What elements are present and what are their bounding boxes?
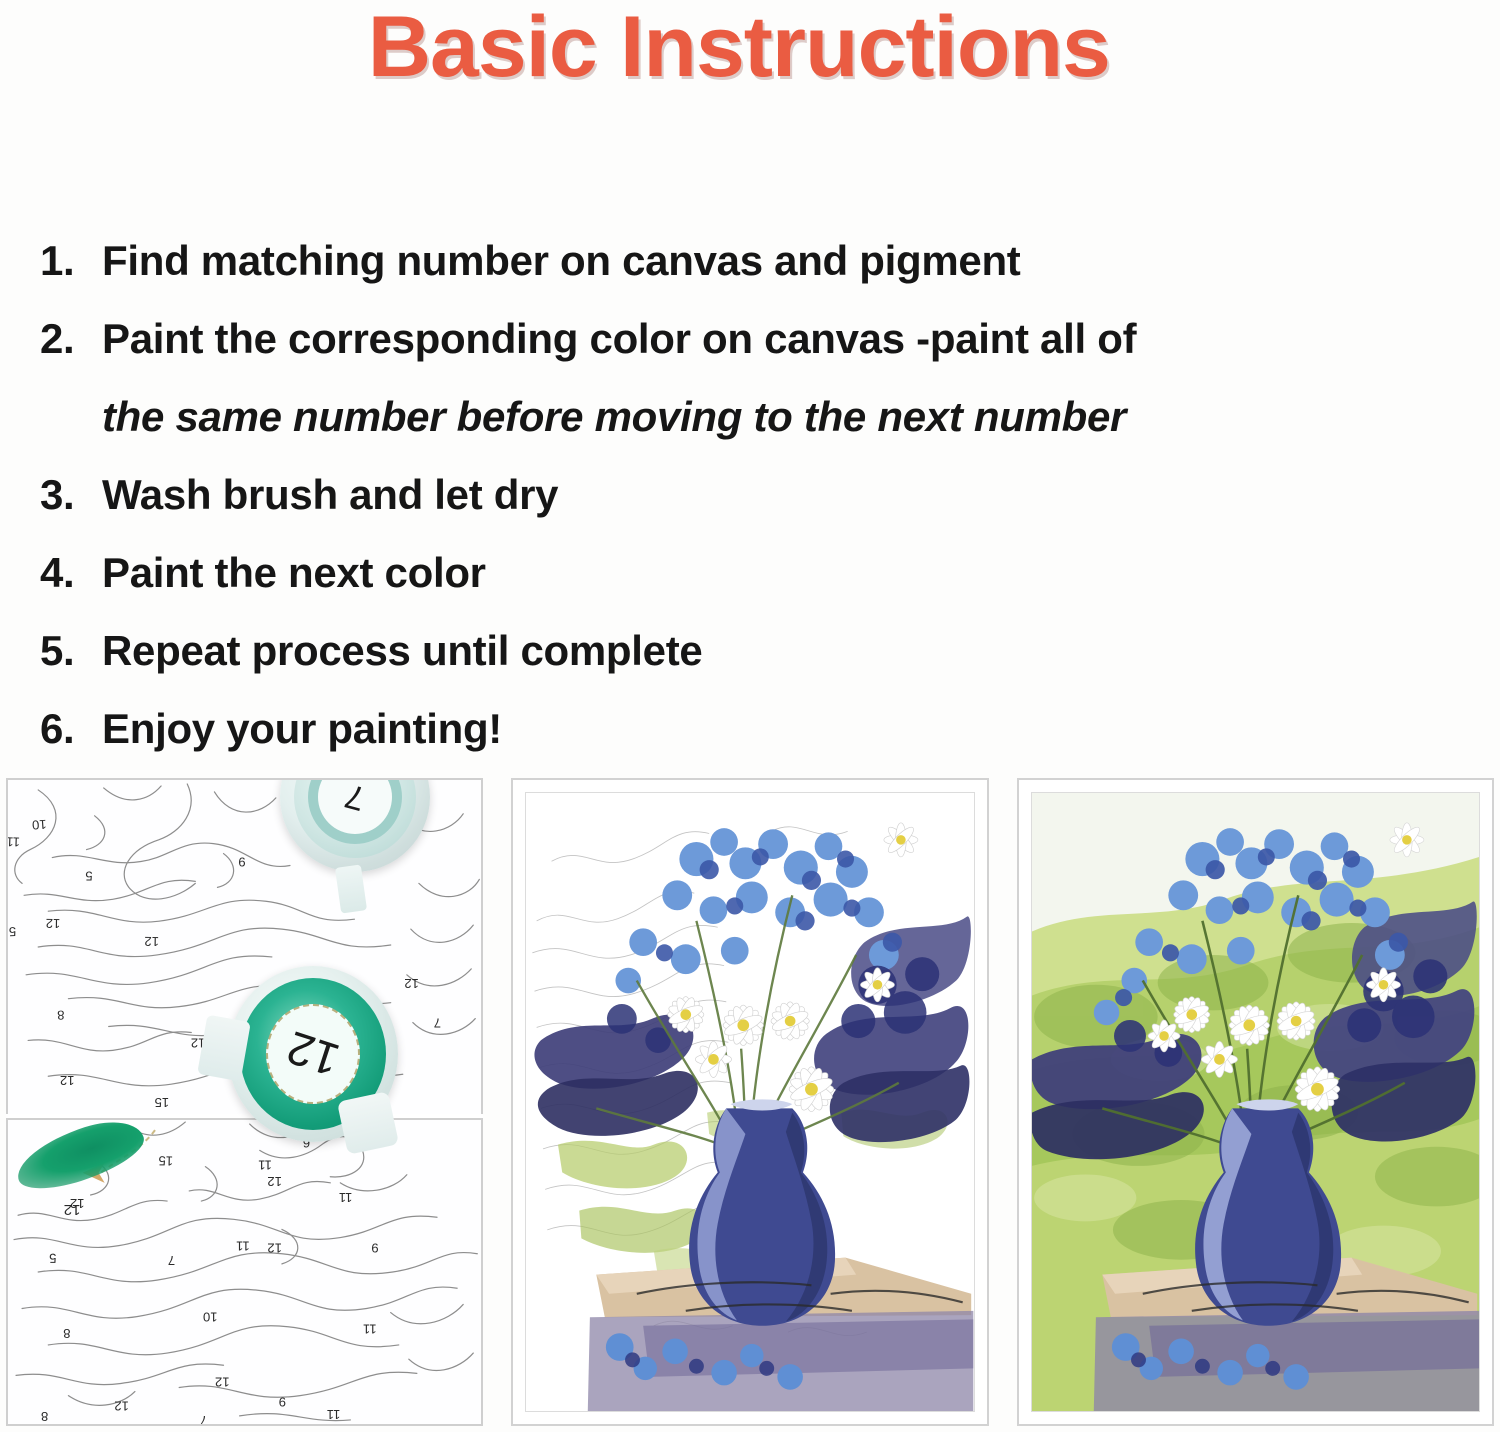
step-number: 2.	[40, 300, 102, 378]
panel-partially-painted[interactable]	[511, 778, 988, 1426]
image-panel-row: 11 10 5 12 5 9 12 8 12 12 12 7 1	[0, 778, 1500, 1426]
step-text-emphasis: paint all of	[930, 300, 1136, 378]
instruction-step-6: 6. Enjoy your painting!	[40, 690, 1460, 768]
svg-text:15: 15	[155, 1095, 170, 1110]
svg-text:12: 12	[114, 1399, 129, 1414]
svg-text:12: 12	[46, 916, 61, 931]
svg-text:9: 9	[238, 855, 245, 870]
vase-painting-partial	[526, 793, 973, 1411]
svg-text:12: 12	[267, 1174, 282, 1189]
svg-text:9: 9	[371, 1241, 378, 1256]
step-text: Find matching number on canvas and pigme…	[102, 222, 1021, 300]
vase-painting-complete	[1032, 793, 1479, 1411]
artwork-partial	[526, 793, 973, 1411]
svg-text:8: 8	[63, 1326, 70, 1341]
svg-text:5: 5	[9, 924, 17, 939]
svg-text:15: 15	[158, 1153, 173, 1168]
svg-text:10: 10	[203, 1310, 218, 1325]
svg-text:9: 9	[279, 1395, 286, 1410]
step-text: Repeat process until complete	[102, 612, 702, 690]
artwork-complete	[1032, 793, 1479, 1411]
svg-text:12: 12	[64, 1201, 81, 1218]
instruction-step-4: 4. Paint the next color	[40, 534, 1460, 612]
svg-text:11: 11	[236, 1239, 250, 1254]
svg-text:12: 12	[267, 1241, 282, 1256]
svg-text:11: 11	[363, 1322, 377, 1337]
svg-text:12: 12	[404, 976, 419, 991]
instruction-list: 1. Find matching number on canvas and pi…	[0, 222, 1460, 768]
svg-text:8: 8	[41, 1409, 48, 1424]
page-title: Basic Instructions	[368, 4, 1110, 90]
step-number: 6.	[40, 690, 102, 768]
step-text: Paint the next color	[102, 534, 486, 612]
svg-text:11: 11	[339, 1190, 353, 1205]
panel-completed-painting[interactable]	[1017, 778, 1494, 1426]
svg-text:10: 10	[32, 817, 48, 833]
svg-text:11: 11	[8, 834, 20, 849]
svg-text:8: 8	[57, 1008, 65, 1023]
paint-pot-tab	[337, 1091, 399, 1155]
svg-text:5: 5	[85, 868, 92, 883]
title-bar: Basic Instructions	[0, 0, 1500, 90]
instruction-step-1: 1. Find matching number on canvas and pi…	[40, 222, 1460, 300]
svg-text:12: 12	[215, 1374, 230, 1389]
step-number: 4.	[40, 534, 102, 612]
svg-text:7: 7	[434, 1016, 441, 1031]
panel-inner-frame	[525, 792, 974, 1412]
panel-numbered-canvas[interactable]: 11 10 5 12 5 9 12 8 12 12 12 7 1	[6, 778, 483, 1426]
step-text: Enjoy your painting!	[102, 690, 502, 768]
svg-text:12: 12	[144, 934, 159, 949]
instruction-step-2-continuation: the same number before moving to the nex…	[40, 378, 1460, 456]
svg-text:5: 5	[49, 1251, 57, 1266]
panel-frame: 11 10 5 12 5 9 12 8 12 12 12 7 1	[6, 778, 483, 1426]
canvas-photo-bottom: 15 11 6 12 11 12 5 7 11 12 9 8 1	[6, 1118, 483, 1426]
step-number: 5.	[40, 612, 102, 690]
step-text: Paint the corresponding color on canvas …	[102, 300, 930, 378]
step-number: 1.	[40, 222, 102, 300]
instruction-step-5: 5. Repeat process until complete	[40, 612, 1460, 690]
svg-text:11: 11	[327, 1407, 341, 1422]
panel-inner-frame	[1031, 792, 1480, 1412]
instruction-step-3: 3. Wash brush and let dry	[40, 456, 1460, 534]
step-text: Wash brush and let dry	[102, 456, 558, 534]
svg-text:12: 12	[60, 1073, 75, 1088]
svg-text:11: 11	[258, 1158, 272, 1173]
instruction-step-2: 2. Paint the corresponding color on canv…	[40, 300, 1460, 378]
svg-text:7: 7	[200, 1413, 207, 1424]
step-number: 3.	[40, 456, 102, 534]
svg-text:7: 7	[168, 1253, 175, 1268]
